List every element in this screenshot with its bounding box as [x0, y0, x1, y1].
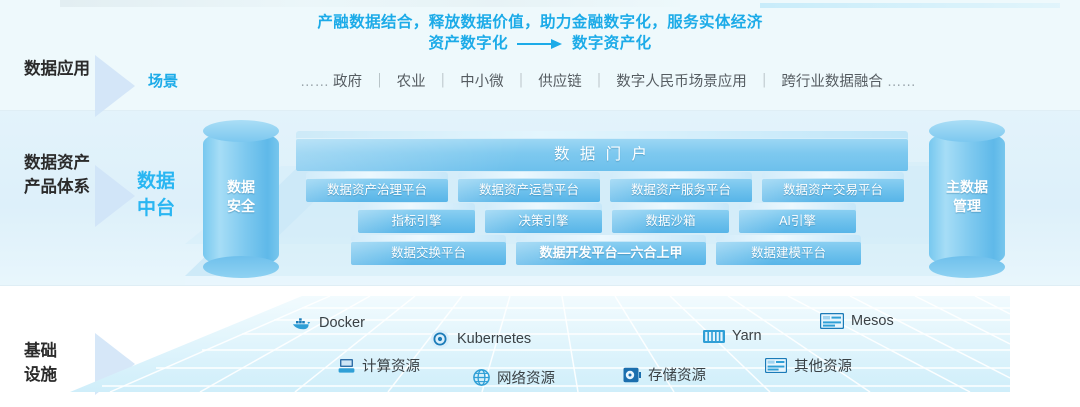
clipped-text-remnant-right — [760, 3, 1060, 8]
box-label: 数据资产运营平台 — [458, 178, 600, 202]
row-engines: 指标引擎 决策引擎 数据沙箱 AI引擎 — [358, 203, 874, 233]
cylinder-label: 数据 安全 — [203, 178, 279, 216]
layer-arrow-product-icon — [95, 165, 135, 227]
box-label: 指标引擎 — [358, 209, 475, 233]
title-asset-digitization: 资产数字化 — [428, 33, 508, 54]
cylinder-label-line1: 数据 — [203, 178, 279, 197]
box-label: 数据开发平台—六合上甲 — [516, 241, 706, 265]
infra-item-storage[interactable]: 存储资源 — [623, 364, 706, 385]
infra-item-label: 其他资源 — [794, 355, 852, 376]
infra-item-label: 网络资源 — [497, 367, 555, 388]
infra-item-label: 存储资源 — [648, 364, 706, 385]
scenario-separator: ｜ — [372, 74, 387, 90]
scenario-item-0[interactable]: 政府 — [333, 74, 362, 90]
infra-item-network[interactable]: 网络资源 — [473, 367, 555, 388]
box-label: 数据交换平台 — [351, 241, 506, 265]
scenario-leading-dots: …… — [300, 74, 329, 90]
data-portal-bar[interactable]: 数 据 门 户 — [296, 131, 908, 171]
scenario-list: …… 政府 ｜ 农业 ｜ 中小微 ｜ 供应链 ｜ 数字人民币场景应用 ｜ 跨行业… — [300, 70, 900, 91]
cylinder-label-line2: 管理 — [929, 197, 1005, 216]
box-asset-governance[interactable]: 数据资产治理平台 — [306, 172, 448, 202]
box-data-exchange[interactable]: 数据交换平台 — [351, 235, 506, 265]
infra-item-other[interactable]: 其他资源 — [765, 355, 852, 376]
layer-label-product: 数据资产 产品体系 — [24, 151, 90, 199]
scenario-item-2[interactable]: 中小微 — [460, 74, 504, 90]
scenario-separator: ｜ — [514, 74, 529, 90]
layer-label-application-line1: 数据应用 — [24, 57, 90, 81]
box-ai-engine[interactable]: AI引擎 — [739, 203, 856, 233]
cylinder-label: 主数据 管理 — [929, 178, 1005, 216]
layer-label-infrastructure-line2: 设施 — [24, 363, 57, 387]
scenario-label: 场景 — [148, 70, 178, 91]
scenario-separator: ｜ — [757, 74, 772, 90]
infra-item-label: Kubernetes — [457, 331, 531, 347]
box-label: 数据资产治理平台 — [306, 178, 448, 202]
infra-item-label: 计算资源 — [362, 355, 420, 376]
scenario-separator: ｜ — [592, 74, 607, 90]
cylinder-bottom-cap — [929, 256, 1005, 278]
diagram-canvas: 产融数据结合，释放数据价值，助力金融数字化，服务实体经济 资产数字化 数字资产化… — [0, 0, 1080, 407]
scenario-trailing-dots: …… — [887, 74, 916, 90]
box-label: 数据资产交易平台 — [762, 178, 904, 202]
box-data-modeling[interactable]: 数据建模平台 — [716, 235, 861, 265]
layer-label-product-line2: 产品体系 — [24, 175, 90, 199]
box-label: 数据建模平台 — [716, 241, 861, 265]
box-data-sandbox[interactable]: 数据沙箱 — [612, 203, 729, 233]
box-label: 数据沙箱 — [612, 209, 729, 233]
box-asset-service[interactable]: 数据资产服务平台 — [610, 172, 752, 202]
layer-arrow-application-icon — [95, 55, 135, 117]
mesos-card-icon — [820, 313, 844, 329]
layer-label-application: 数据应用 — [24, 57, 90, 81]
data-midplatform-line2: 中台 — [137, 195, 175, 222]
box-label: AI引擎 — [739, 209, 856, 233]
diagram-title: 产融数据结合，释放数据价值，助力金融数字化，服务实体经济 资产数字化 数字资产化 — [0, 12, 1080, 54]
box-data-development[interactable]: 数据开发平台—六合上甲 — [516, 235, 706, 265]
box-decision-engine[interactable]: 决策引擎 — [485, 203, 602, 233]
infra-item-docker[interactable]: Docker — [292, 315, 365, 331]
kubernetes-helm-icon — [430, 329, 450, 349]
data-midplatform-line1: 数据 — [137, 168, 175, 195]
row-asset-platforms: 数据资产治理平台 数据资产运营平台 数据资产服务平台 数据资产交易平台 — [306, 172, 906, 202]
scenario-separator: ｜ — [436, 74, 451, 90]
box-label: 数据资产服务平台 — [610, 178, 752, 202]
storage-disk-icon — [623, 367, 641, 383]
scenario-item-5[interactable]: 跨行业数据融合 — [781, 74, 883, 90]
server-icon — [338, 358, 355, 374]
scenario-item-1[interactable]: 农业 — [397, 74, 426, 90]
box-asset-operation[interactable]: 数据资产运营平台 — [458, 172, 600, 202]
infra-item-yarn[interactable]: Yarn — [703, 328, 762, 344]
row-data-platforms: 数据交换平台 数据开发平台—六合上甲 数据建模平台 — [351, 235, 861, 265]
layer-label-infrastructure-line1: 基础 — [24, 339, 57, 363]
cylinder-top-cap — [929, 120, 1005, 142]
scenario-item-4[interactable]: 数字人民币场景应用 — [616, 74, 747, 90]
docker-whale-icon — [292, 316, 312, 331]
cylinder-data-security: 数据 安全 — [203, 120, 279, 278]
data-midplatform-label: 数据 中台 — [137, 168, 175, 222]
globe-icon — [473, 369, 490, 386]
cylinder-top-cap — [203, 120, 279, 142]
cylinder-master-data-management: 主数据 管理 — [929, 120, 1005, 278]
other-resource-icon — [765, 358, 787, 373]
clipped-text-remnant — [60, 0, 680, 7]
layer-divider-top — [0, 110, 1080, 111]
infra-item-label: Yarn — [732, 328, 762, 344]
cylinder-bottom-cap — [203, 256, 279, 278]
infra-item-mesos[interactable]: Mesos — [820, 313, 894, 329]
portal-label: 数 据 门 户 — [296, 138, 908, 171]
scenario-item-3[interactable]: 供应链 — [538, 74, 582, 90]
yarn-bars-icon — [703, 329, 725, 344]
cylinder-label-line2: 安全 — [203, 197, 279, 216]
cylinder-label-line1: 主数据 — [929, 178, 1005, 197]
layer-label-infrastructure: 基础 设施 — [24, 339, 57, 387]
box-label: 决策引擎 — [485, 209, 602, 233]
infra-item-label: Docker — [319, 315, 365, 331]
infra-item-label: Mesos — [851, 313, 894, 329]
arrow-right-icon — [517, 38, 563, 50]
title-line-1: 产融数据结合，释放数据价值，助力金融数字化，服务实体经济 — [0, 12, 1080, 33]
title-line-2: 资产数字化 数字资产化 — [0, 33, 1080, 54]
infra-item-kubernetes[interactable]: Kubernetes — [430, 329, 531, 349]
box-metric-engine[interactable]: 指标引擎 — [358, 203, 475, 233]
box-asset-trading[interactable]: 数据资产交易平台 — [762, 172, 904, 202]
layer-label-product-line1: 数据资产 — [24, 151, 90, 175]
infra-item-compute[interactable]: 计算资源 — [338, 355, 420, 376]
title-digital-assetization: 数字资产化 — [572, 33, 652, 54]
